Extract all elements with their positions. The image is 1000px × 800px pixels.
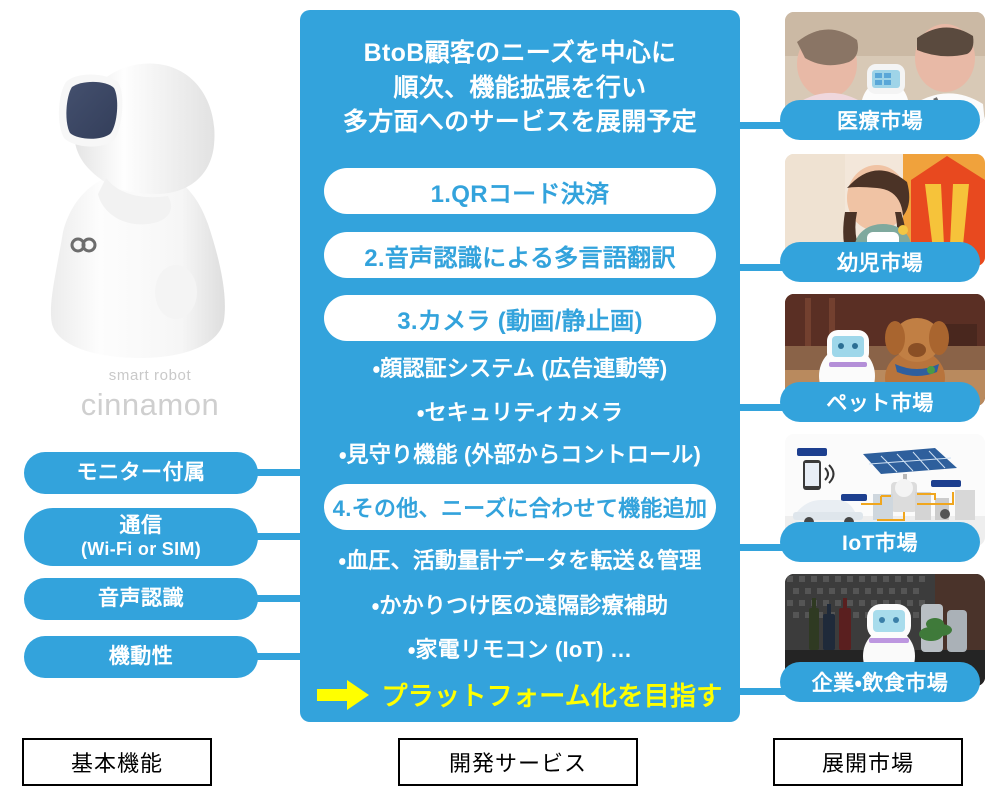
feature-pill-communication[interactable]: 通信 (Wi-Fi or SIM) [24,508,258,566]
feature-pill-label: 機動性 [109,645,174,669]
brand-name: cinnamon [0,389,300,420]
camera-bullet-face-auth: ・顔認証システム (広告連動等) [300,351,740,383]
market-label-restaurant[interactable]: 企業・飲食市場 [780,662,980,702]
legend-development-service: 開発サービス [398,738,638,786]
market-label-infant[interactable]: 幼児市場 [780,242,980,282]
brand-block: smart robot cinnamon [0,368,300,420]
market-card-restaurant[interactable]: 企業・飲食市場 [785,574,985,686]
other-bullet-telemedicine: ・かかりつけ医の遠隔診療補助 [300,588,740,620]
market-label-text: 幼児市場 [837,247,923,277]
panel-heading-line-3: 多方面へのサービスを展開予定 [300,105,740,140]
legend-basic-functions: 基本機能 [22,738,212,786]
legend-target-markets: 展開市場 [773,738,963,786]
other-bullet-vitals-transfer: ・血圧、活動量計データを転送＆管理 [300,543,740,575]
legend-label: 基本機能 [71,746,163,778]
feature-pill-monitor[interactable]: モニター付属 [24,452,258,494]
market-card-iot[interactable]: IoT市場 [785,434,985,546]
service-box-label: 1.QRコード決済 [431,174,610,209]
service-box-voice-translation[interactable]: 2.音声認識による多言語翻訳 [324,232,716,278]
market-label-text: IoT市場 [842,527,918,557]
market-label-pet[interactable]: ペット市場 [780,382,980,422]
panel-heading: BtoB顧客のニーズを中心に 順次、機能拡張を行い 多方面へのサービスを展開予定 [300,36,740,140]
camera-bullet-security-camera: ・セキュリティカメラ [300,395,740,427]
legend-label: 展開市場 [822,746,914,778]
service-box-qr-payment[interactable]: 1.QRコード決済 [324,168,716,214]
target-markets-column: 医療市場 幼児市場 [740,0,1000,722]
feature-pill-voice-recognition[interactable]: 音声認識 [24,578,258,620]
right-arrow-icon [317,680,369,710]
market-card-infant[interactable]: 幼児市場 [785,154,985,266]
service-box-camera[interactable]: 3.カメラ (動画/静止画) [324,295,716,341]
camera-bullet-watch-over: ・見守り機能 (外部からコントロール) [300,437,740,469]
feature-pill-label: 音声認識 [98,587,184,611]
basic-functions-column: smart robot cinnamon モニター付属 通信 (Wi-Fi or… [0,0,300,722]
development-service-panel: BtoB顧客のニーズを中心に 順次、機能拡張を行い 多方面へのサービスを展開予定… [300,10,740,722]
panel-heading-line-2: 順次、機能拡張を行い [300,71,740,106]
panel-heading-line-1: BtoB顧客のニーズを中心に [300,36,740,71]
market-label-medical[interactable]: 医療市場 [780,100,980,140]
market-card-pet[interactable]: ペット市場 [785,294,985,406]
service-box-label: 4.その他、ニーズに合わせて機能追加 [333,491,708,523]
service-box-label: 2.音声認識による多言語翻訳 [364,238,676,273]
robot-illustration [18,42,288,362]
market-label-text: 企業・飲食市場 [812,667,949,697]
market-label-text: 医療市場 [837,105,923,135]
brand-tagline: smart robot [0,368,300,383]
legend-label: 開発サービス [449,746,587,778]
feature-pill-mobility[interactable]: 機動性 [24,636,258,678]
market-label-iot[interactable]: IoT市場 [780,522,980,562]
other-bullet-appliance-remote: ・家電リモコン (IoT) … [300,632,740,664]
feature-pill-label: モニター付属 [77,461,206,485]
service-box-other-features[interactable]: 4.その他、ニーズに合わせて機能追加 [324,484,716,530]
platform-goal-label: プラットフォーム化を目指す [381,676,722,713]
market-card-medical[interactable]: 医療市場 [785,12,985,124]
feature-pill-sublabel: (Wi-Fi or SIM) [81,539,201,560]
feature-pill-label: 通信 [120,514,163,538]
service-box-label: 3.カメラ (動画/静止画) [397,301,643,336]
platform-goal-row: プラットフォーム化を目指す [300,676,740,713]
market-label-text: ペット市場 [826,387,934,417]
